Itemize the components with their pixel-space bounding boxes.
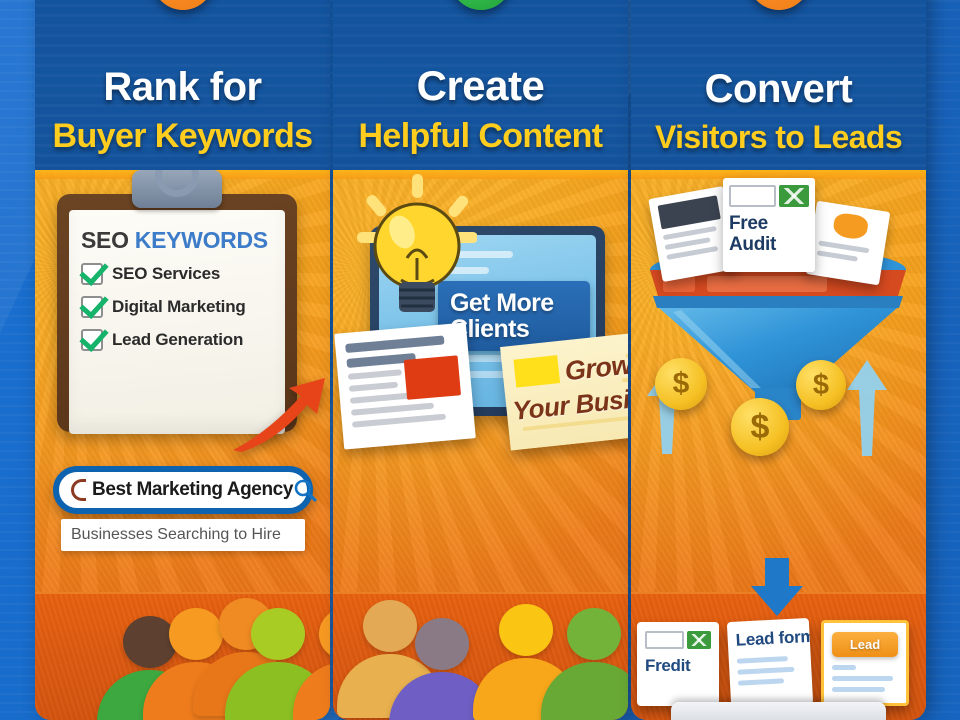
panel-2-audience-strip: [333, 592, 628, 720]
clipboard-title-seo: SEO: [81, 227, 129, 253]
checklist-item[interactable]: Digital Marketing: [81, 296, 273, 318]
magnifier-icon[interactable]: [293, 478, 317, 502]
person-silhouette: [541, 608, 628, 720]
panel-2-title-line2: Helpful Content: [358, 119, 602, 154]
checklist-item-label: Lead Generation: [112, 330, 243, 350]
search-module: Best Marketing Agency Businesses Searchi…: [53, 466, 313, 551]
panel-1-illustration: SEO KEYWORDS SEO Services Digital Market…: [35, 170, 330, 720]
person-silhouette: [293, 608, 330, 720]
search-bar[interactable]: Best Marketing Agency: [53, 466, 313, 514]
document-image-block: [404, 355, 461, 400]
note-color-block: [513, 355, 560, 387]
free-audit-card: Free Audit: [723, 178, 815, 272]
checkbox-green-icon: [687, 631, 711, 649]
lead-card[interactable]: Fredit: [637, 622, 719, 706]
lead-cta-button[interactable]: Lead: [832, 632, 898, 657]
checklist-item[interactable]: Lead Generation: [81, 329, 273, 351]
panel-convert-visitors-to-leads: Convert Visitors to Leads Free: [631, 0, 926, 720]
panel-3-illustration: Free Audit: [631, 170, 926, 720]
step-badge-2-number: 2: [472, 0, 489, 6]
panel-rank-for-buyer-keywords: Rank for Buyer Keywords SEO KEYWORDS SEO…: [35, 0, 330, 720]
step-badge-3-number: 3: [770, 0, 787, 6]
panel-2-illustration: Get More Clients: [333, 170, 628, 720]
clipboard-clip-icon: [132, 170, 222, 208]
free-audit-line1: Free: [729, 214, 809, 235]
growth-arrow-icon: [231, 376, 327, 452]
note-line1: Grow: [563, 349, 628, 387]
lightbulb-icon: [357, 174, 477, 334]
panel-1-title-line2: Buyer Keywords: [53, 119, 313, 154]
grow-your-business-note: Grow Your Business: [500, 330, 628, 451]
checkbox-checked-icon[interactable]: [81, 263, 103, 285]
lead-card[interactable]: Lead: [821, 620, 909, 706]
checkbox-checked-icon[interactable]: [81, 329, 103, 351]
panel-2-header: Create Helpful Content: [333, 0, 628, 170]
lead-card[interactable]: Lead form: [727, 618, 813, 708]
search-left-accent-icon: [71, 479, 86, 501]
free-audit-line2: Audit: [729, 235, 809, 256]
coin-symbol: $: [813, 369, 829, 402]
bottom-device-bar: [671, 702, 886, 720]
coin-symbol: $: [673, 367, 690, 401]
panel-3-header: Convert Visitors to Leads: [631, 0, 926, 170]
dollar-coin-icon: $: [796, 360, 846, 410]
panel-create-helpful-content: Create Helpful Content Get More Clients: [333, 0, 628, 720]
content-document: [334, 322, 476, 449]
panel-1-title-line1: Rank for: [103, 67, 261, 108]
dollar-coin-icon: $: [655, 358, 707, 410]
clipboard-title-keywords: KEYWORDS: [135, 227, 268, 253]
lead-card-label: Fredit: [645, 656, 711, 676]
free-audit-card-header: [729, 185, 809, 207]
funnel-input-card: [806, 201, 891, 286]
step-badge-1-number: 1: [174, 0, 191, 6]
checkbox-checked-icon[interactable]: [81, 296, 103, 318]
checkbox-green-icon: [779, 185, 809, 207]
checklist-item-label: Digital Marketing: [112, 297, 246, 317]
infographic-canvas: Rank for Buyer Keywords SEO KEYWORDS SEO…: [0, 0, 960, 720]
search-query-text[interactable]: Best Marketing Agency: [92, 479, 293, 501]
checklist-item[interactable]: SEO Services: [81, 263, 273, 285]
panel-1-header: Rank for Buyer Keywords: [35, 0, 330, 170]
checklist-item-label: SEO Services: [112, 264, 220, 284]
clipboard-title: SEO KEYWORDS: [81, 227, 273, 254]
dollar-coin-icon: $: [731, 398, 789, 456]
panel-2-title-line1: Create: [417, 65, 545, 108]
panel-1-audience-strip: [35, 592, 330, 720]
panel-3-title-line1: Convert: [705, 69, 853, 110]
down-arrow-icon: [747, 558, 807, 618]
lead-card-label: Lead form: [735, 627, 802, 650]
panel-3-title-line2: Visitors to Leads: [655, 121, 902, 154]
coin-symbol: $: [751, 408, 770, 447]
search-caption: Businesses Searching to Hire: [61, 519, 305, 551]
